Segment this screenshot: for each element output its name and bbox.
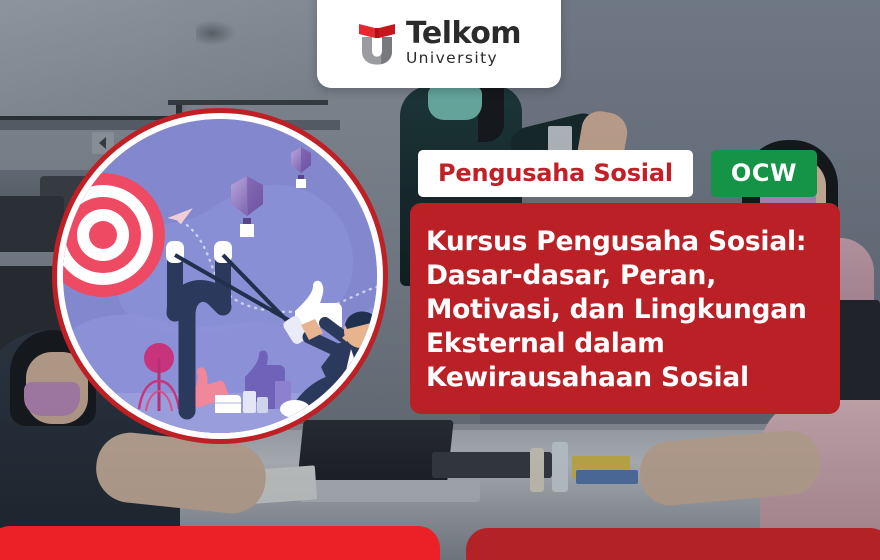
- illustration-circle-ring: [52, 108, 388, 444]
- telkom-u-icon: [357, 21, 397, 65]
- slingshot-target-illustration: [63, 119, 377, 433]
- category-badge[interactable]: Pengusaha Sosial: [418, 150, 693, 197]
- page-title: Kursus Pengusaha Sosial: Dasar-dasar, Pe…: [426, 225, 820, 395]
- logo-line-university: University: [406, 51, 521, 67]
- badge-row: Pengusaha Sosial OCW: [418, 150, 817, 197]
- ocw-badge-label: OCW: [731, 159, 797, 187]
- logo-wordmark: Telkom University: [406, 19, 521, 67]
- illustration-circle-inner: [57, 113, 383, 439]
- ocw-badge[interactable]: OCW: [711, 150, 817, 197]
- logo-lockup: Telkom University: [357, 19, 521, 67]
- banner-stage: Telkom University Pengusaha Sosial OCW K…: [0, 0, 880, 560]
- telkom-university-logo-card: Telkom University: [317, 0, 561, 88]
- logo-line-telkom: Telkom: [406, 19, 521, 49]
- course-title-box: Kursus Pengusaha Sosial: Dasar-dasar, Pe…: [410, 203, 840, 414]
- category-badge-label: Pengusaha Sosial: [438, 159, 673, 187]
- footer-strip-left: [0, 526, 440, 560]
- footer-strip-right: [466, 528, 880, 560]
